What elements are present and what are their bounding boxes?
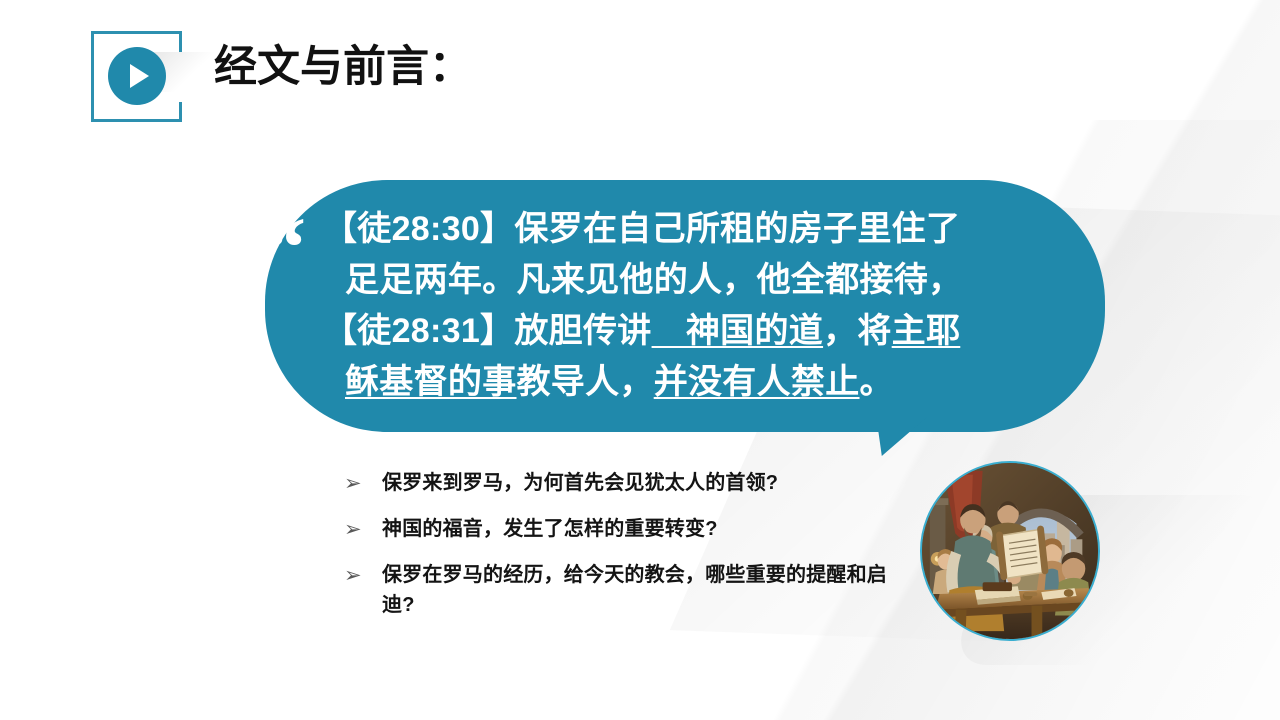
quote-segment: 教导人， [517, 363, 654, 401]
slide-canvas: 经文与前言： “ 【徒28:30】保罗在自己所租的房子里住了 足足两年。凡来见他… [0, 0, 1280, 720]
quote-segment: 足足两年。凡来见他的人，他全都接待， [345, 261, 962, 299]
quotation-mark-icon: “ [263, 204, 317, 290]
play-circle-icon[interactable] [108, 47, 166, 105]
play-triangle-icon [130, 64, 149, 88]
quote-segment: 【徒28:31】放胆传讲 [323, 312, 652, 350]
quote-segment-underlined: 稣基督的事 [345, 363, 517, 401]
list-item[interactable]: ➢ 保罗在罗马的经历，给今天的教会，哪些重要的提醒和启迪? [344, 560, 904, 620]
quote-bubble-tail [876, 416, 934, 456]
quote-line-3: 【徒28:31】放胆传讲 神国的道，将主耶 [323, 306, 1083, 357]
arrow-bullet-icon: ➢ [344, 514, 382, 544]
list-item[interactable]: ➢ 神国的福音，发生了怎样的重要转变? [344, 514, 904, 544]
list-item[interactable]: ➢ 保罗来到罗马，为何首先会见犹太人的首领? [344, 468, 904, 498]
list-item-label: 神国的福音，发生了怎样的重要转变? [382, 514, 904, 544]
illustration-circle [920, 461, 1100, 641]
quote-segment: 【徒28:30】保罗在自己所租的房子里住了 [323, 210, 960, 248]
quote-bubble: “ 【徒28:30】保罗在自己所租的房子里住了 足足两年。凡来见他的人，他全都接… [265, 180, 1105, 432]
quote-segment-underlined: 并没有人禁止 [654, 363, 860, 401]
question-list: ➢ 保罗来到罗马，为何首先会见犹太人的首领? ➢ 神国的福音，发生了怎样的重要转… [344, 468, 904, 620]
paul-teaching-scene-illustration [922, 463, 1098, 639]
quote-segment-underlined: 神国的道 [652, 312, 824, 350]
list-item-label: 保罗来到罗马，为何首先会见犹太人的首领? [382, 468, 904, 498]
quote-line-4: 稣基督的事教导人，并没有人禁止。 [323, 357, 1083, 408]
arrow-bullet-icon: ➢ [344, 560, 382, 590]
quote-line-1: 【徒28:30】保罗在自己所租的房子里住了 [323, 204, 1083, 255]
slide-header: 经文与前言： [0, 0, 1280, 140]
quote-segment-underlined: 主耶 [892, 312, 961, 350]
arrow-bullet-icon: ➢ [344, 468, 382, 498]
page-title: 经文与前言： [214, 46, 472, 89]
quote-line-2: 足足两年。凡来见他的人，他全都接待， [323, 255, 1083, 306]
quote-segment: 。 [860, 363, 894, 401]
quote-text-block: 【徒28:30】保罗在自己所租的房子里住了 足足两年。凡来见他的人，他全都接待，… [323, 204, 1083, 408]
quote-segment: ，将 [823, 312, 892, 350]
list-item-label: 保罗在罗马的经历，给今天的教会，哪些重要的提醒和启迪? [382, 560, 904, 620]
